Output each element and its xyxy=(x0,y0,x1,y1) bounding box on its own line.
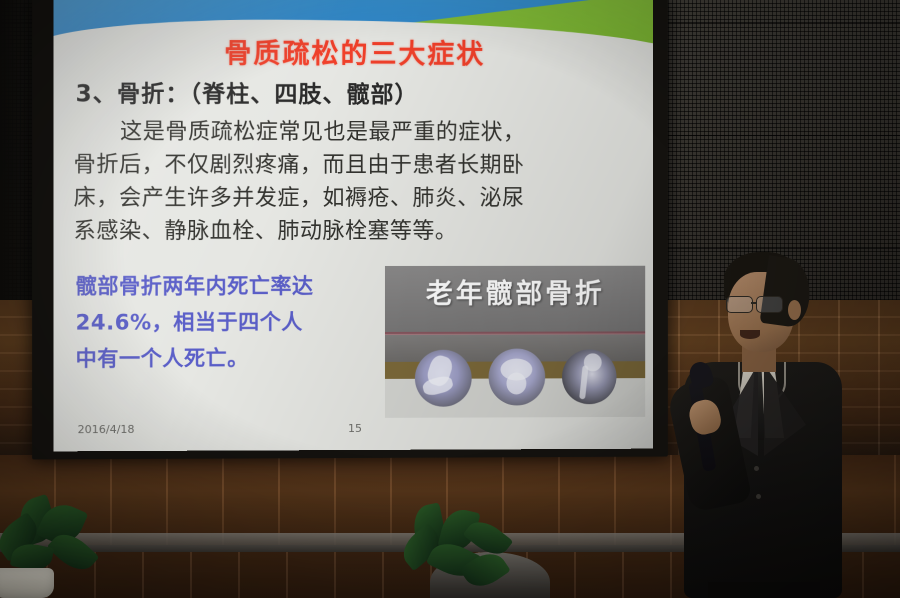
picture-caption: 老年髋部骨折 xyxy=(387,272,643,311)
slide-footer: 2016/4/18 15 xyxy=(53,421,653,446)
slide-heading: 3、骨折：（脊柱、四肢、髋部） xyxy=(76,74,419,109)
slide-title: 骨质疏松的三大症状 xyxy=(53,31,653,72)
highlight-line: 中有一个人死亡。 xyxy=(76,346,249,371)
hair-side xyxy=(759,255,814,329)
slide-body-line: 骨折后，不仅剧烈疼痛，而且由于患者长期卧 xyxy=(74,153,525,179)
pelvis-xray-icon xyxy=(489,349,546,406)
slide-page-number: 15 xyxy=(53,421,653,436)
slide-body-line: 这是骨质疏松症常见也是最严重的症状， xyxy=(120,120,525,146)
mouth xyxy=(740,330,760,339)
slide-body-line: 床，会产生许多并发症，如褥疮、肺炎、泌尿 xyxy=(74,186,525,211)
hip-xray-icon xyxy=(415,350,472,407)
potted-plant-center xyxy=(400,505,570,598)
hip-implant-xray-icon xyxy=(562,349,616,404)
highlight-line: 24.6%，相当于四个人 xyxy=(76,310,303,335)
presenter xyxy=(668,252,858,598)
slide-body: 这是骨质疏松症常见也是最严重的症状， 骨折后，不仅剧烈疼痛，而且由于患者长期卧 … xyxy=(74,115,640,248)
jacket-button xyxy=(756,494,761,499)
highlight-line: 髋部骨折两年内死亡率达 xyxy=(76,274,314,298)
eyeglasses-icon xyxy=(726,296,790,311)
lecture-hall-scene: 骨质疏松的三大症状 3、骨折：（脊柱、四肢、髋部） 这是骨质疏松症常见也是最严重… xyxy=(0,0,900,598)
slide-highlight-text: 髋部骨折两年内死亡率达 24.6%，相当于四个人 中有一个人死亡。 xyxy=(76,268,377,377)
slide: 骨质疏松的三大症状 3、骨折：（脊柱、四肢、髋部） 这是骨质疏松症常见也是最严重… xyxy=(53,0,653,451)
trousers xyxy=(708,582,820,598)
potted-plant-left xyxy=(0,498,140,598)
slide-embedded-picture: 老年髋部骨折 xyxy=(385,266,645,418)
projection-screen: 骨质疏松的三大症状 3、骨折：（脊柱、四肢、髋部） 这是骨质疏松症常见也是最严重… xyxy=(53,0,653,451)
slide-body-line: 系感染、静脉血栓、肺动脉栓塞等等。 xyxy=(74,219,458,244)
jacket-button xyxy=(754,466,759,471)
